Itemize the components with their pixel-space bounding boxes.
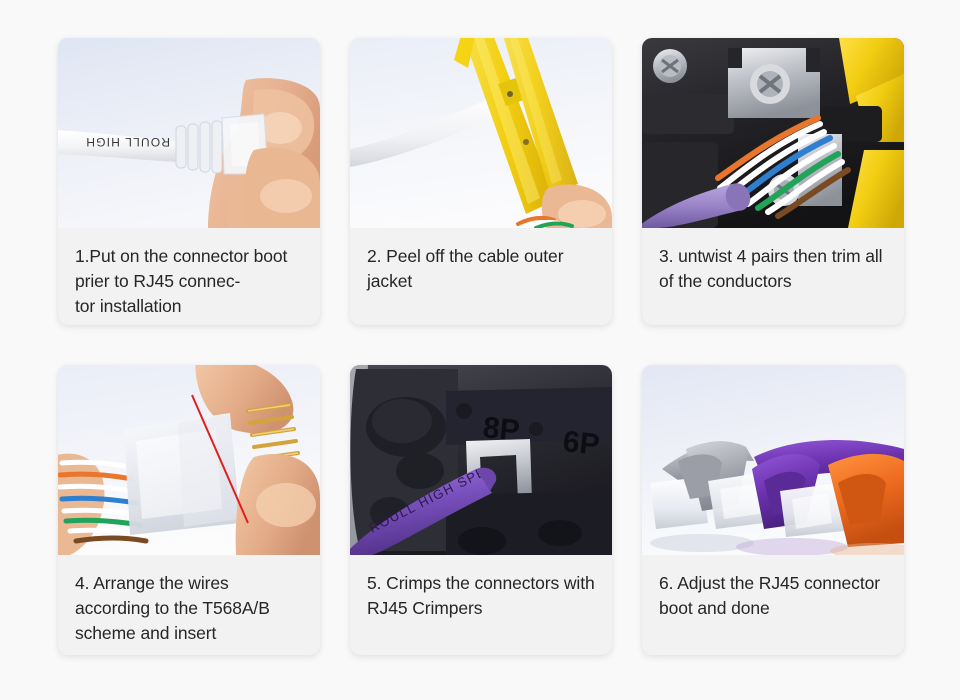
- step-card-6[interactable]: 6. Adjust the RJ45 connector boot and do…: [642, 365, 904, 655]
- photo-step-1-connector-boot: ROULL HIGH: [58, 38, 320, 228]
- step-card-2[interactable]: 2. Peel off the cable outer jacket: [350, 38, 612, 325]
- step-card-5[interactable]: 8P 6P ROULL HIGH SPE 5. Crimps the conne…: [350, 365, 612, 655]
- step-caption-6: 6. Adjust the RJ45 connector boot and do…: [642, 555, 904, 655]
- photo-step-4-arrange-wires: [58, 365, 320, 555]
- svg-text:ROULL HIGH: ROULL HIGH: [85, 135, 170, 149]
- photo-step-5-crimping: 8P 6P ROULL HIGH SPE: [350, 365, 612, 555]
- photo-step-3-untwist-trim: [642, 38, 904, 228]
- photo-step-2-peel-jacket: [350, 38, 612, 228]
- step-card-3[interactable]: 3. untwist 4 pairs then trim all of the …: [642, 38, 904, 325]
- svg-text:6P: 6P: [561, 425, 601, 462]
- step-caption-5: 5. Crimps the connectors with RJ45 Crimp…: [350, 555, 612, 655]
- step-caption-4: 4. Arrange the wires according to the T5…: [58, 555, 320, 655]
- step-caption-3: 3. untwist 4 pairs then trim all of the …: [642, 228, 904, 325]
- instruction-steps-grid: ROULL HIGH 1.Put on the connector boot p…: [58, 38, 900, 655]
- step-caption-1: 1.Put on the connector boot prier to RJ4…: [58, 228, 320, 325]
- step-card-4[interactable]: 4. Arrange the wires according to the T5…: [58, 365, 320, 655]
- step-caption-2: 2. Peel off the cable outer jacket: [350, 228, 612, 325]
- photo-step-6-adjust-boot: [642, 365, 904, 555]
- step-card-1[interactable]: ROULL HIGH 1.Put on the connector boot p…: [58, 38, 320, 325]
